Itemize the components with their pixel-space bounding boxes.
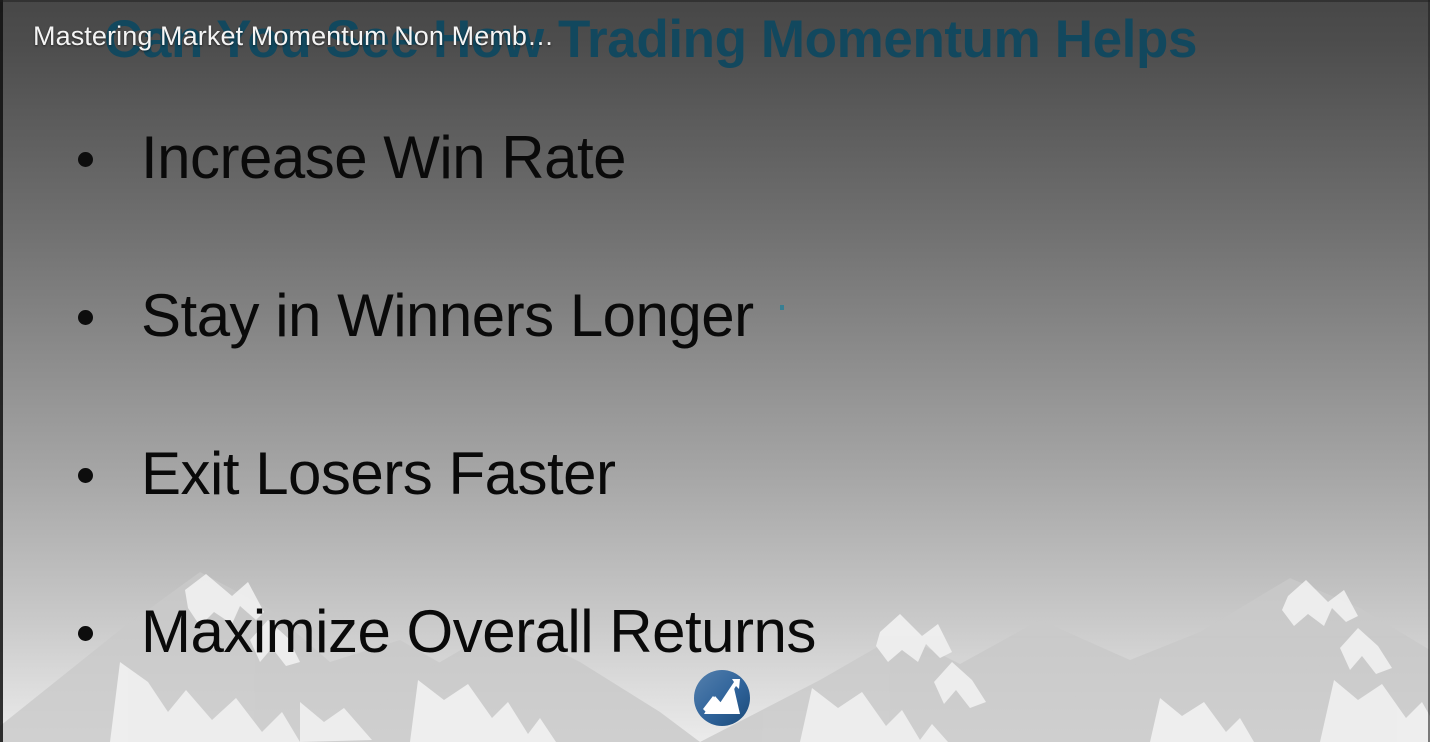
bullet-text: Maximize Overall Returns (141, 594, 816, 670)
slide-frame-top-edge (0, 0, 1430, 2)
bullet-text: Stay in Winners Longer (141, 278, 754, 354)
bullet-text: Exit Losers Faster (141, 436, 616, 512)
bullet-marker-icon (78, 626, 93, 641)
list-item: Increase Win Rate (0, 120, 1430, 278)
bullet-marker-icon (78, 468, 93, 483)
list-item: Stay in Winners Longer (0, 278, 1430, 436)
teal-speck-artifact (780, 305, 784, 310)
video-title-overlay: Mastering Market Momentum Non Memb… (33, 18, 554, 54)
bullet-marker-icon (78, 310, 93, 325)
mountain-chart-arrow-logo (693, 669, 751, 727)
slide-bullet-list: Increase Win Rate Stay in Winners Longer… (0, 120, 1430, 742)
slide-viewer: Can You See How Trading Momentum Helps I… (0, 0, 1430, 742)
bullet-text: Increase Win Rate (141, 120, 626, 196)
list-item: Exit Losers Faster (0, 436, 1430, 594)
slide-frame-left-edge (0, 0, 3, 742)
bullet-marker-icon (78, 152, 93, 167)
